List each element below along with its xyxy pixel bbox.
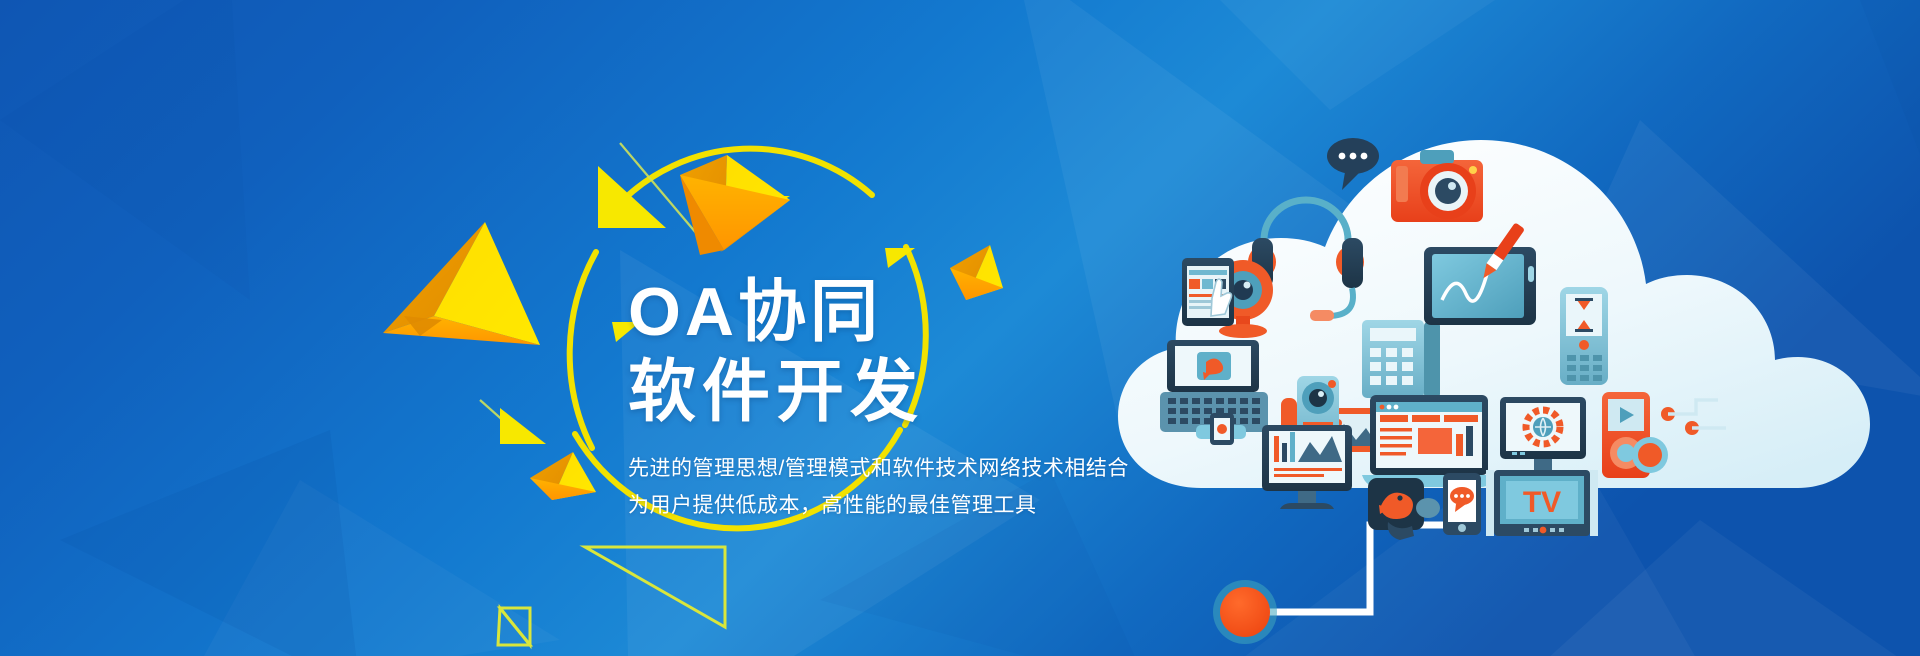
speech-bubble-icon [1327,138,1379,190]
subtitle-line-1: 先进的管理思想/管理模式和软件技术网络技术相结合 [628,450,1188,487]
headline-line-1: OA协同 [628,272,1188,352]
subtitle-block: 先进的管理思想/管理模式和软件技术网络技术相结合 为用户提供低成本，高性能的最佳… [628,450,1188,524]
tablet-touch-icon [1182,258,1234,326]
bird-social-icon [1368,478,1440,540]
tv-label: TV [1523,486,1561,519]
hourglass-phone-icon [1560,287,1608,385]
headline-block: OA协同 软件开发 先进的管理思想/管理模式和软件技术网络技术相结合 为用户提供… [628,272,1188,524]
drawing-tablet-pen-icon [1424,222,1536,325]
subtitle-line-2: 为用户提供低成本，高性能的最佳管理工具 [628,487,1188,524]
desk-phone-icon [1362,320,1440,398]
headline-line-2: 软件开发 [628,352,1188,432]
camera-icon [1391,150,1483,222]
hero-banner: TV OA协同 软件开发 先进的管理思想/管理模式和软件技术网络技术相结合 为用… [0,0,1920,656]
desktop-globe-gear-icon [1500,397,1586,477]
tv-icon: TV [1486,470,1598,536]
smartphone-chat-icon [1443,473,1481,535]
monitor-chart-icon [1262,425,1352,509]
